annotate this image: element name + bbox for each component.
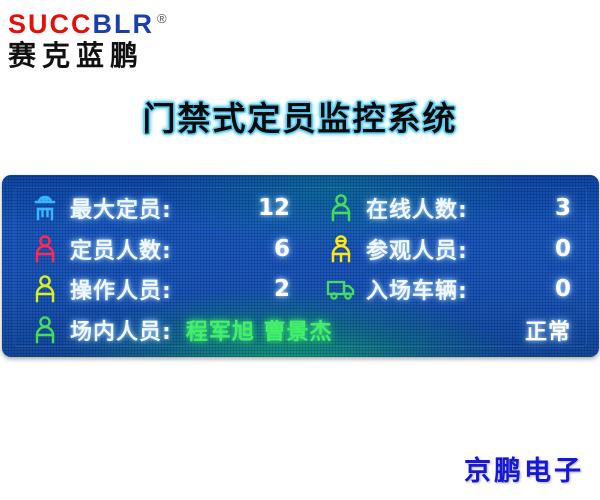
- led-cell-registered-count: 定员人数: 6: [12, 233, 308, 265]
- led-row: 定员人数: 6 参观人员: 0: [12, 230, 589, 268]
- person-icon: [30, 233, 60, 265]
- onsite-personnel-names: 程军旭 曹景杰: [186, 314, 333, 346]
- led-value: 0: [555, 236, 589, 262]
- brand-wordmark-succ: SUCC: [8, 9, 93, 39]
- led-row: 操作人员: 2 入场车辆: 0: [12, 270, 589, 308]
- led-value: 3: [555, 195, 589, 221]
- truck-icon: [326, 273, 356, 305]
- person-icon: [326, 192, 356, 224]
- brand-logo: SUCCBLR® 赛克蓝鹏: [8, 4, 228, 70]
- led-label: 最大定员:: [70, 192, 172, 224]
- led-label: 入场车辆:: [366, 273, 468, 305]
- person-visitor-icon: [326, 233, 356, 265]
- led-display-panel: 最大定员: 12 在线人数: 3: [2, 175, 599, 357]
- status-badge: 正常: [525, 314, 589, 346]
- led-label: 在线人数:: [366, 192, 468, 224]
- led-label: 参观人员:: [366, 233, 468, 265]
- led-label: 操作人员:: [70, 273, 172, 305]
- person-icon: [30, 314, 60, 346]
- led-row: 最大定员: 12 在线人数: 3: [12, 189, 589, 227]
- led-value: 12: [258, 195, 308, 221]
- registered-trademark-icon: ®: [157, 11, 167, 26]
- led-cell-online-count: 在线人数: 3: [308, 192, 589, 224]
- led-value: 6: [274, 236, 308, 262]
- brand-chinese-name: 赛克蓝鹏: [8, 40, 228, 72]
- led-cell-max-capacity: 最大定员: 12: [12, 192, 308, 224]
- vendor-mark: 京鹏电子: [464, 449, 584, 488]
- led-cell-operator-count: 操作人员: 2: [12, 273, 308, 305]
- led-label: 定员人数:: [70, 233, 172, 265]
- led-label-onsite: 场内人员:: [70, 314, 172, 346]
- led-value: 2: [274, 276, 308, 302]
- person-hardhat-icon: [30, 192, 60, 224]
- led-row-onsite: 场内人员: 程军旭 曹景杰 正常: [12, 311, 589, 349]
- page-title: 门禁式定员监控系统: [0, 92, 600, 140]
- brand-wordmark: SUCCBLR®: [8, 4, 228, 39]
- led-cell-visitor-count: 参观人员: 0: [308, 233, 589, 265]
- led-value: 0: [555, 276, 589, 302]
- led-cell-vehicle-count: 入场车辆: 0: [308, 273, 589, 305]
- brand-wordmark-blr: BLR: [93, 9, 155, 39]
- led-content-grid: 最大定员: 12 在线人数: 3: [2, 175, 599, 357]
- person-icon: [30, 273, 60, 305]
